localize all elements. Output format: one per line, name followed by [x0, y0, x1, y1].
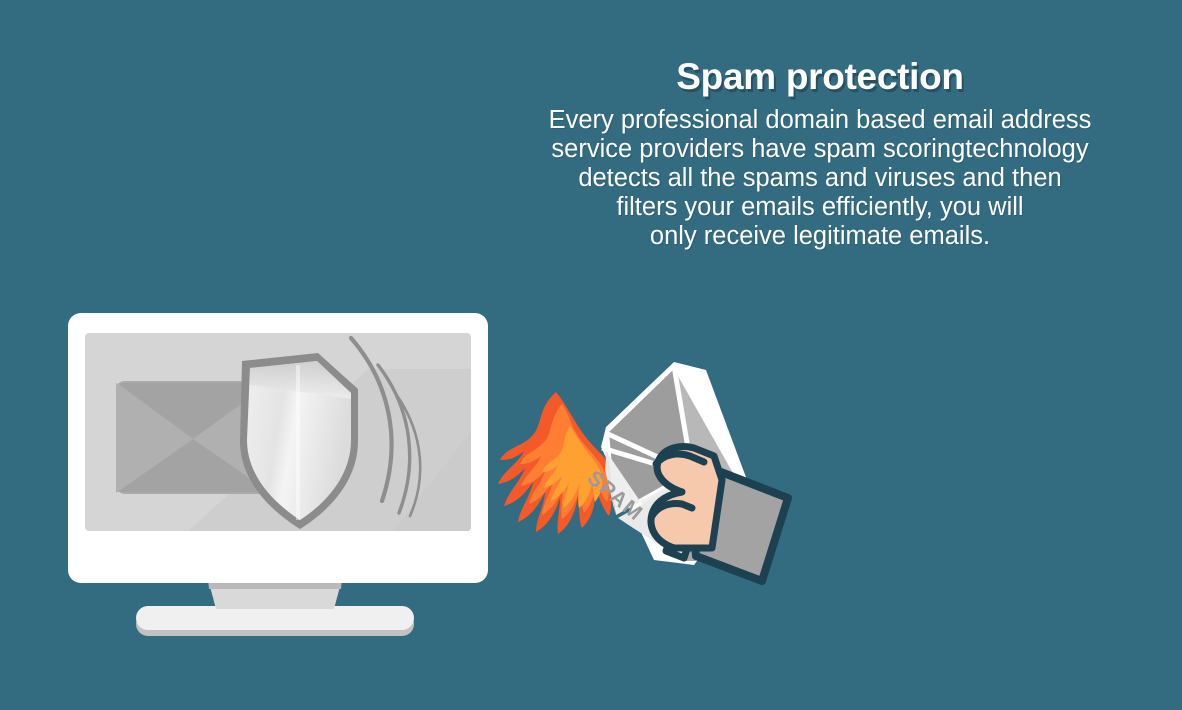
page-title: Spam protection [500, 56, 1140, 98]
burning-spam-envelope-scene: SPAM [478, 352, 808, 602]
paragraph-line: only receive legitimate emails. [500, 222, 1140, 251]
text-block: Spam protection Every professional domai… [500, 56, 1140, 251]
spam-envelope-svg: SPAM [478, 352, 808, 602]
desktop-monitor [68, 313, 488, 643]
monitor-base [136, 606, 414, 636]
monitor-screen [85, 333, 471, 563]
paragraph-line: Every professional domain based email ad… [500, 106, 1140, 135]
flame-icon [498, 392, 624, 534]
illustration-canvas: Spam protection Every professional domai… [0, 0, 1182, 710]
body-paragraph: Every professional domain based email ad… [500, 106, 1140, 251]
monitor-svg [68, 313, 488, 643]
hand-icon [651, 447, 722, 548]
paragraph-line: filters your emails efficiently, you wil… [500, 193, 1140, 222]
paragraph-line: detects all the spams and viruses and th… [500, 164, 1140, 193]
monitor-stand [208, 579, 342, 609]
paragraph-line: service providers have spam scoringtechn… [500, 135, 1140, 164]
